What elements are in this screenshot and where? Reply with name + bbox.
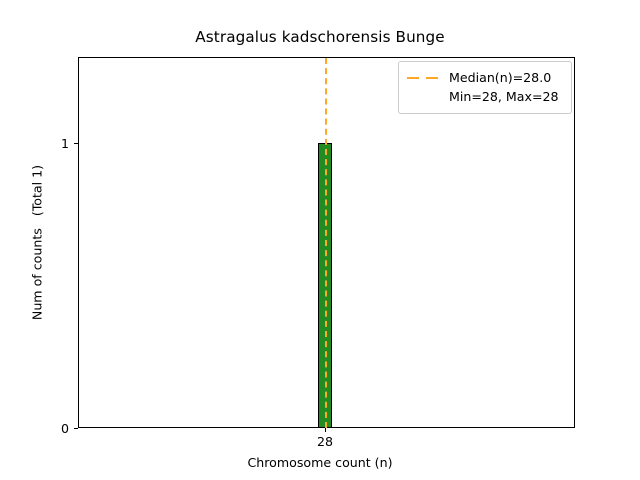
xtick-label-28: 28 [317, 434, 333, 449]
y-axis-label: Num of counts (Total 1) [30, 53, 45, 433]
chart-title: Astragalus kadschorensis Bunge [0, 28, 640, 46]
xtick-mark-28 [325, 428, 326, 432]
median-line [325, 58, 327, 428]
legend: Median(n)=28.0 Min=28, Max=28 [398, 61, 572, 114]
chart-figure: Astragalus kadschorensis Bunge 0 1 28 Ch… [0, 0, 640, 480]
legend-dashed-line-icon [406, 72, 442, 84]
legend-label-median: Median(n)=28.0 [449, 70, 551, 85]
ytick-mark-0 [74, 428, 78, 429]
legend-label-minmax: Min=28, Max=28 [449, 89, 559, 104]
legend-entry-minmax: Min=28, Max=28 [406, 87, 564, 106]
legend-entry-median: Median(n)=28.0 [406, 68, 564, 87]
x-axis-label: Chromosome count (n) [0, 455, 640, 470]
ytick-label-1: 1 [61, 136, 69, 151]
ytick-label-0: 0 [61, 421, 69, 436]
ytick-mark-1 [74, 143, 78, 144]
